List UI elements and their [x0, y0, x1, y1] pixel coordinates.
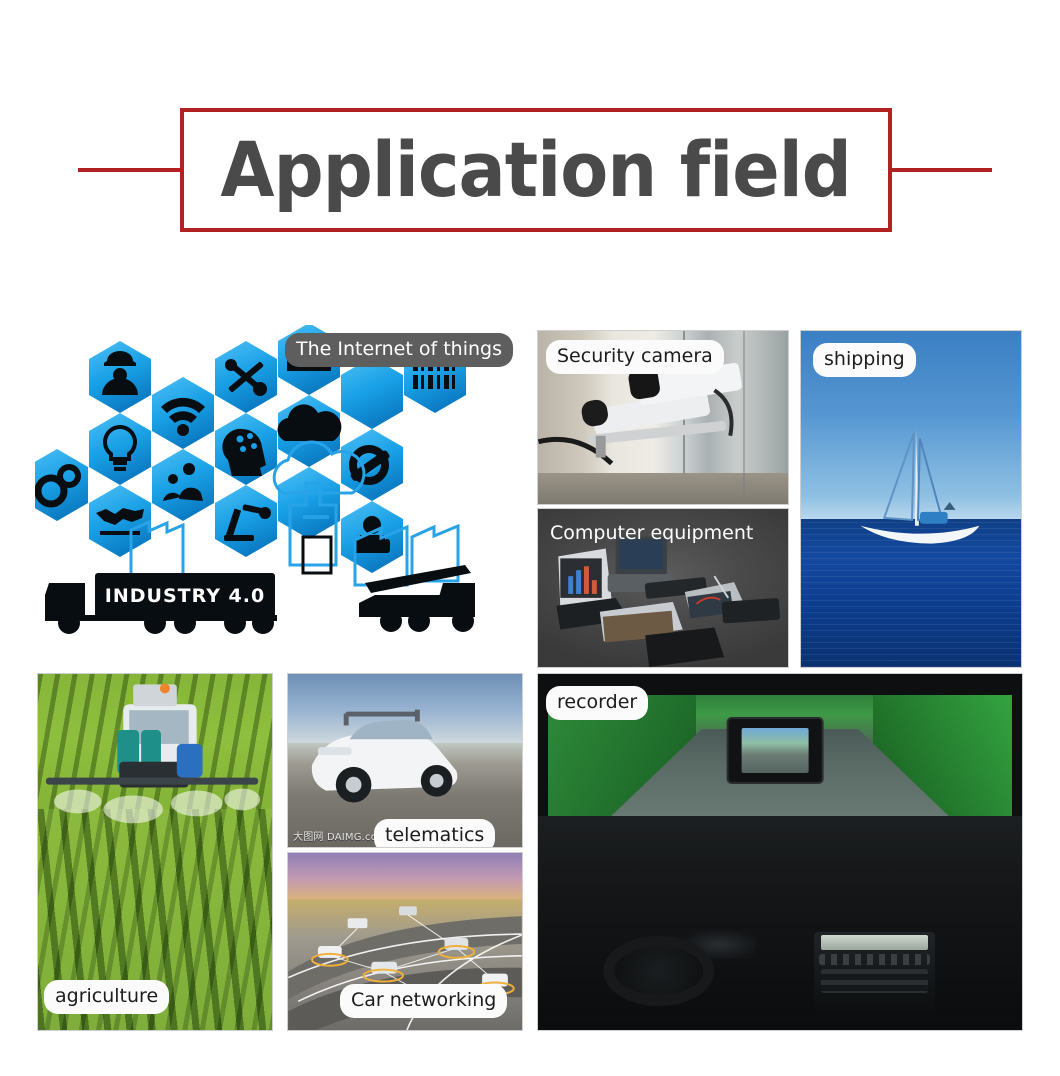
dashcam-device[interactable]	[727, 717, 824, 785]
badge-internet-of-things: The Internet of things	[285, 333, 513, 367]
badge-shipping: shipping	[813, 343, 916, 377]
panel-security-camera[interactable]: Security camera	[537, 330, 789, 505]
badge-car-networking: Car networking	[340, 984, 507, 1018]
car-interior-photo	[538, 674, 1022, 1030]
panel-agriculture[interactable]: agriculture	[37, 673, 273, 1031]
panel-computer-equipment[interactable]: Computer equipment	[537, 508, 789, 668]
panel-telematics[interactable]: 大图网 DAIMG.com telematics	[287, 673, 523, 848]
console-buttons[interactable]	[821, 969, 927, 993]
panel-car-networking[interactable]: Car networking	[287, 852, 523, 1031]
air-vents	[819, 954, 930, 965]
dashboard	[538, 816, 1022, 1030]
image-watermark: 大图网 DAIMG.com	[293, 828, 387, 843]
center-console	[814, 932, 935, 1013]
badge-agriculture: agriculture	[44, 980, 169, 1014]
dashcam-screen	[742, 728, 809, 774]
iot-illustration: INDUSTRY 4.0	[35, 325, 535, 665]
sprayer-tractor-art	[38, 674, 272, 1030]
application-field-page: Application field The Internet of things	[0, 0, 1060, 1076]
badge-computer-equipment: Computer equipment	[546, 517, 764, 551]
panel-shipping[interactable]: shipping	[800, 330, 1022, 668]
badge-security-camera: Security camera	[546, 340, 724, 374]
badge-recorder: recorder	[546, 686, 648, 720]
panel-internet-of-things[interactable]: The Internet of things	[35, 325, 535, 665]
panel-grid: The Internet of things	[0, 0, 1060, 1076]
sailboat-art	[801, 331, 1021, 667]
panel-recorder[interactable]: recorder	[537, 673, 1023, 1031]
infotainment-screen	[821, 935, 927, 950]
badge-telematics: telematics	[374, 819, 495, 848]
pump-truck	[359, 565, 475, 632]
factory-door	[303, 537, 331, 573]
steering-wheel	[603, 936, 714, 1006]
industry-label: INDUSTRY 4.0	[105, 585, 265, 607]
